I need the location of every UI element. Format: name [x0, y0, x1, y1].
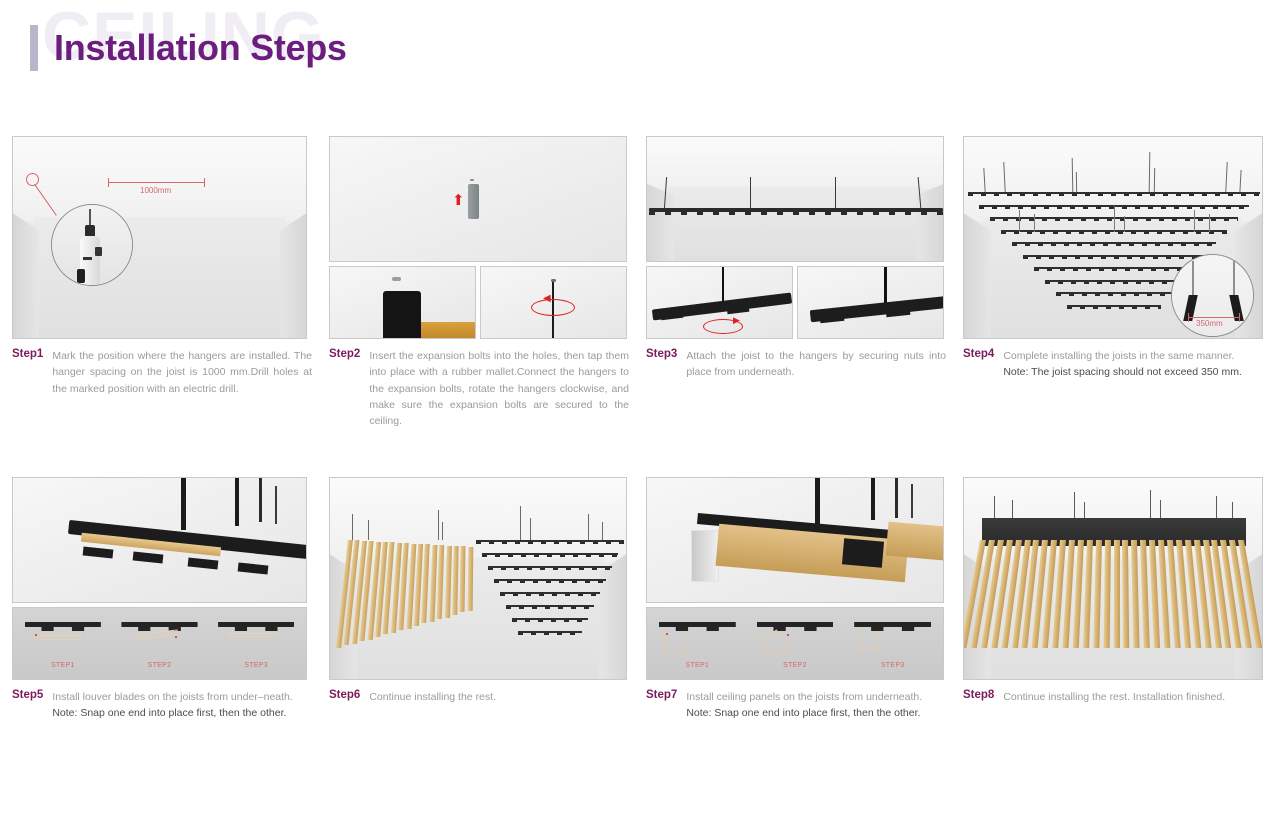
- step1-illustration: 1000mm: [12, 136, 307, 339]
- step-card-step6: Step6 Continue installing the rest.: [329, 477, 635, 722]
- step3-illustration-secured: [797, 266, 944, 339]
- step-card-step8: Step8 Continue installing the rest. Inst…: [963, 477, 1269, 722]
- step5-note: Note: Snap one end into place first, the…: [52, 705, 292, 721]
- step4-illustration: 350mm: [963, 136, 1263, 339]
- step8-text: Continue installing the rest. Installati…: [1003, 689, 1225, 705]
- page-header: CEILING Installation Steps: [0, 0, 1269, 100]
- steps-row-bottom: STEP1 STEP2 STEP3 Step5 Install louver b…: [0, 477, 1269, 722]
- step3-illustration-main: [646, 136, 944, 262]
- profile-step1: STEP1: [659, 622, 736, 666]
- profile-strip: STEP1 STEP2 STEP3: [13, 608, 306, 679]
- profile-step3: STEP3: [218, 622, 294, 666]
- step3-illustration-nut: ▶: [646, 266, 793, 339]
- step7-text: Install ceiling panels on the joists fro…: [686, 689, 922, 722]
- profile-strip: STEP1 STEP2 STEP3: [647, 608, 943, 679]
- profile-label-1: STEP1: [659, 662, 736, 669]
- step8-label: Step8: [963, 689, 1003, 705]
- rotation-arrowhead: ◀: [543, 294, 551, 304]
- step4-body: Complete installing the joists in the sa…: [1003, 350, 1234, 362]
- profile-label-2: STEP2: [757, 662, 834, 669]
- step1-caption: Step1 Mark the position where the hanger…: [12, 339, 312, 397]
- finished-ceiling-render: [964, 478, 1262, 679]
- profile-label-3: STEP3: [218, 662, 294, 669]
- profile-step1: STEP1: [25, 622, 101, 666]
- half-installed-grid: [330, 478, 626, 679]
- step7-body: Install ceiling panels on the joists fro…: [686, 691, 922, 703]
- step2-illustration-rotate: ◀: [480, 266, 627, 339]
- marker-circle: [26, 173, 39, 186]
- dimension-label-350: 350mm: [1196, 319, 1223, 328]
- step4-note: Note: The joist spacing should not excee…: [1003, 364, 1242, 380]
- steps-row-top: 1000mm Step1 Mark the position where the…: [0, 136, 1269, 429]
- profile-label-3: STEP3: [854, 662, 931, 669]
- arrow-up-icon: ⬆: [452, 193, 465, 208]
- step6-label: Step6: [329, 689, 369, 705]
- step7-note: Note: Snap one end into place first, the…: [686, 705, 922, 721]
- step-card-step4: 350mm Step4 Complete installing the jois…: [963, 136, 1269, 429]
- step4-caption: Step4 Complete installing the joists in …: [963, 339, 1263, 381]
- profile-label-1: STEP1: [25, 662, 101, 669]
- page-title-text: Installation Steps: [54, 30, 347, 66]
- step5-label: Step5: [12, 689, 52, 722]
- step3-text: Attach the joist to the hangers by secur…: [686, 348, 946, 381]
- profile-label-2: STEP2: [121, 662, 197, 669]
- step5-profile-diagrams: STEP1 STEP2 STEP3: [12, 607, 307, 680]
- dimension-label-1000: 1000mm: [140, 186, 171, 195]
- profile-step2: STEP2: [757, 622, 834, 666]
- step7-profile-diagrams: STEP1 STEP2 STEP3: [646, 607, 944, 680]
- step5-caption: Step5 Install louver blades on the joist…: [12, 680, 312, 722]
- step4-label: Step4: [963, 348, 1003, 381]
- step1-text: Mark the position where the hangers are …: [52, 348, 312, 397]
- step-card-step2: ⬆ ◀ Step2 Insert the expansion bolts int…: [329, 136, 635, 429]
- step7-caption: Step7 Install ceiling panels on the jois…: [646, 680, 946, 722]
- step2-label: Step2: [329, 348, 369, 429]
- page-title: Installation Steps: [30, 25, 347, 71]
- title-accent-bar: [30, 25, 38, 71]
- rotation-arrow-icon: [531, 299, 575, 316]
- step7-label: Step7: [646, 689, 686, 722]
- step2-text: Insert the expansion bolts into the hole…: [369, 348, 629, 429]
- step6-caption: Step6 Continue installing the rest.: [329, 680, 629, 705]
- step6-illustration: [329, 477, 627, 680]
- step-card-step5: STEP1 STEP2 STEP3 Step5 Install louver b…: [12, 477, 318, 722]
- step5-text: Install louver blades on the joists from…: [52, 689, 292, 722]
- step-card-step7: STEP1 STEP2 STEP3 Step7 Install ceiling …: [646, 477, 952, 722]
- magnifier-350mm: 350mm: [1171, 254, 1254, 337]
- step2-illustration-mallet: [329, 266, 476, 339]
- step4-text: Complete installing the joists in the sa…: [1003, 348, 1242, 381]
- step1-label: Step1: [12, 348, 52, 397]
- step3-label: Step3: [646, 348, 686, 381]
- step2-illustration-main: ⬆: [329, 136, 627, 262]
- step5-illustration-main: [12, 477, 307, 603]
- step-card-step3: ▶ Step3 Attach the joist to the hangers …: [646, 136, 952, 429]
- dimension-line-1000: [108, 182, 205, 183]
- profile-step2: STEP2: [121, 622, 197, 666]
- step8-illustration: [963, 477, 1263, 680]
- step7-illustration-main: [646, 477, 944, 603]
- magnifier-drill: [51, 204, 133, 286]
- step3-caption: Step3 Attach the joist to the hangers by…: [646, 339, 946, 381]
- step5-body: Install louver blades on the joists from…: [52, 691, 292, 703]
- profile-step3: STEP3: [854, 622, 931, 666]
- step2-caption: Step2 Insert the expansion bolts into th…: [329, 339, 629, 429]
- step8-caption: Step8 Continue installing the rest. Inst…: [963, 680, 1263, 705]
- step-card-step1: 1000mm Step1 Mark the position where the…: [12, 136, 318, 429]
- step6-text: Continue installing the rest.: [369, 689, 496, 705]
